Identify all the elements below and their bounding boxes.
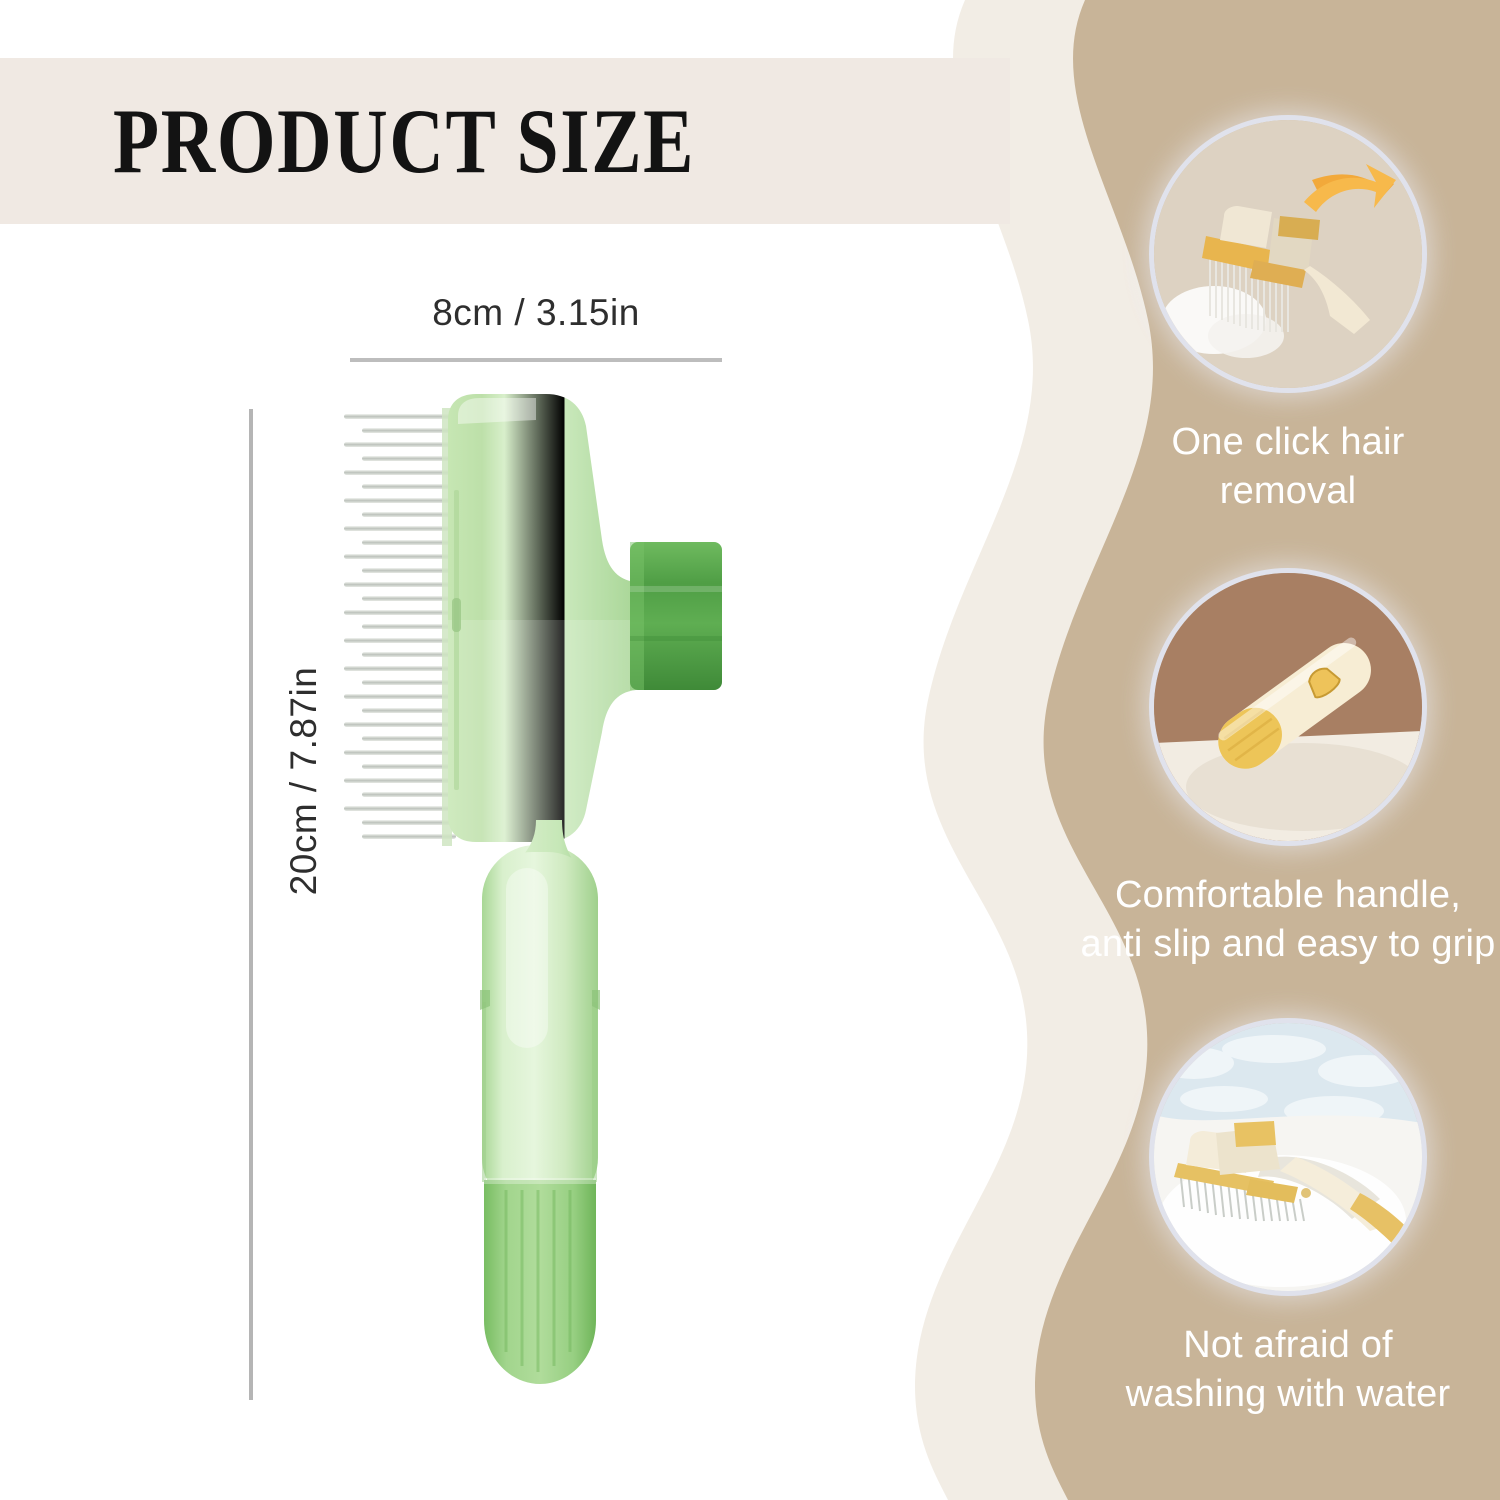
height-dimension-line	[249, 409, 253, 1400]
feature-1-caption-line1: One click hair	[1172, 421, 1405, 463]
feature-3-caption-line2: washing with water	[1126, 1373, 1451, 1415]
feature-2-caption-line1: Comfortable handle,	[1115, 874, 1461, 916]
feature-1-photo	[1154, 120, 1422, 388]
page-title: PRODUCT SIZE	[113, 95, 695, 187]
feature-1-caption-line2: removal	[1220, 470, 1357, 512]
feature-1-caption: One click hair removal	[1078, 418, 1498, 515]
product-image	[330, 390, 750, 1410]
release-button	[630, 542, 722, 690]
height-dimension-label: 20cm / 7.87in	[283, 641, 325, 921]
feature-washable: Not afraid of washing with water	[1078, 1023, 1498, 1418]
feature-comfortable-handle: Comfortable handle, anti slip and easy t…	[1078, 573, 1498, 968]
width-dimension-label: 8cm / 3.15in	[350, 292, 722, 334]
brush-in-water-photo	[1154, 1023, 1422, 1291]
width-dimension-line	[350, 358, 722, 362]
feature-2-caption-line2: anti slip and easy to grip	[1081, 923, 1496, 965]
brush-pins	[344, 408, 456, 846]
infographic-canvas: PRODUCT SIZE 8cm / 3.15in 20cm / 7.87in	[0, 0, 1500, 1500]
handle-closeup-photo	[1154, 573, 1422, 841]
feature-2-caption: Comfortable handle, anti slip and easy t…	[1078, 871, 1498, 968]
feature-2-photo	[1154, 573, 1422, 841]
feature-one-click-hair-removal: One click hair removal	[1078, 120, 1498, 515]
handle-shaft	[480, 852, 600, 1208]
feature-3-caption: Not afraid of washing with water	[1078, 1321, 1498, 1418]
feature-3-caption-line1: Not afraid of	[1183, 1324, 1393, 1366]
brush-head	[448, 394, 636, 842]
feature-3-photo	[1154, 1023, 1422, 1291]
brush-with-arrow-photo	[1154, 120, 1422, 388]
brush-illustration	[330, 390, 750, 1410]
grip-cap	[484, 1178, 596, 1384]
